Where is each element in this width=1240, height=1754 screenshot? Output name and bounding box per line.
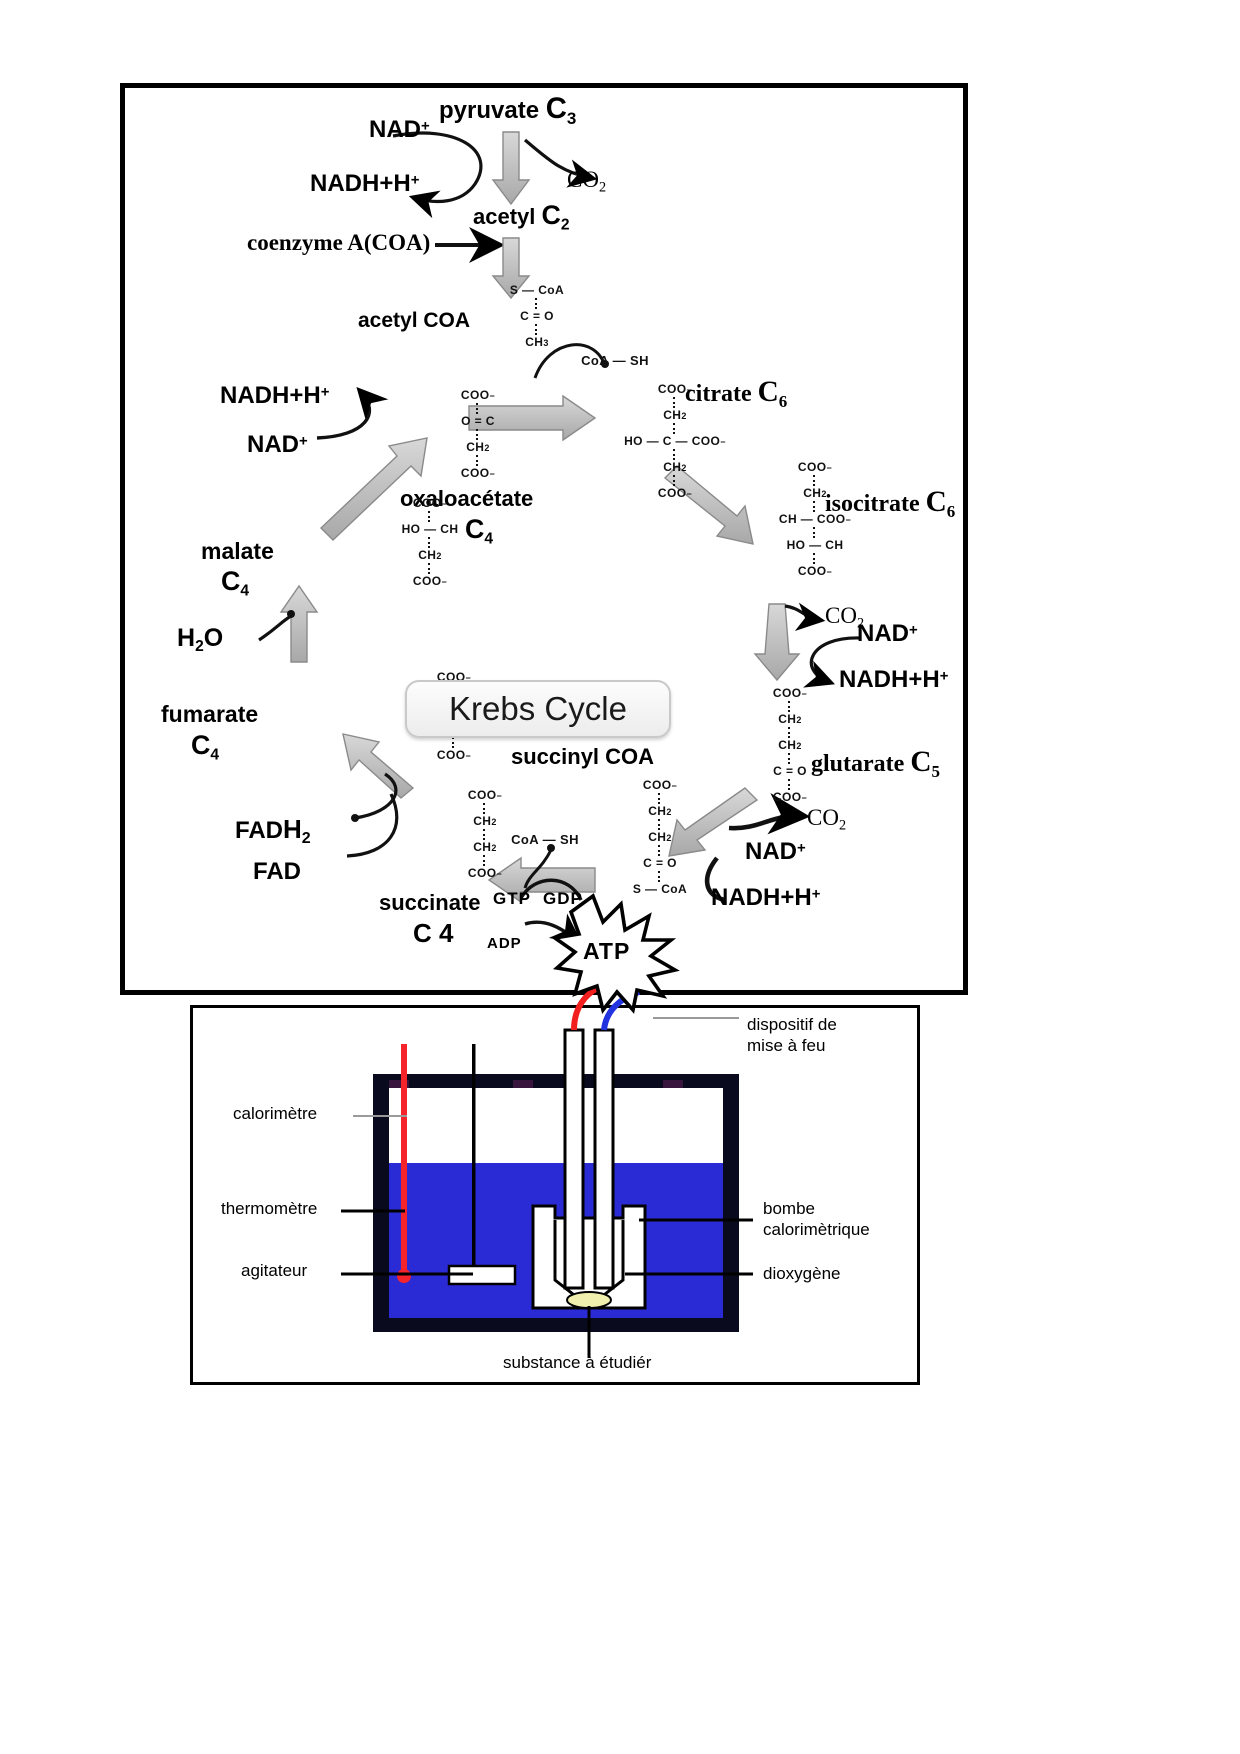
krebs-cycle-title: Krebs Cycle: [405, 680, 671, 738]
calorimeter-canvas: dispositif demise à feu calorimètre ther…: [193, 1008, 917, 1382]
calorimeter-drawing: [193, 1008, 917, 1382]
molecule-malate: COO− HO — CH CH2 COO−: [365, 496, 495, 589]
molecule-acetyl-coa: S — CoA C = O CH3: [477, 283, 597, 350]
label-nadh-h-lower: NADH+H+: [711, 886, 820, 910]
label-fumarate: fumarate: [161, 703, 258, 726]
label-fumarate-c: C4: [191, 732, 219, 763]
molecule-oxaloacetate: COO− O = C CH2 COO−: [413, 388, 543, 481]
label-nadh-h-left: NADH+H+: [220, 384, 329, 408]
label-succinyl-coa: succinyl COA: [511, 746, 654, 768]
label-succinate-c: C 4: [413, 920, 453, 946]
label-malate-c: C4: [221, 568, 249, 599]
krebs-cycle-diagram: pyruvate C3 NAD+ NADH+H+ CO2 acetyl C2 c…: [120, 83, 968, 995]
electrode-tube-right: [595, 1030, 613, 1288]
label-acetyl: acetyl C2: [473, 202, 570, 233]
label-coa-sh-top: CoA — SH: [550, 353, 680, 368]
label-co2-top: CO2: [567, 168, 606, 195]
label-agitateur: agitateur: [241, 1260, 307, 1281]
label-fadh2: FADH2: [235, 816, 311, 847]
electrode-tube-left: [565, 1030, 583, 1288]
label-dioxygene: dioxygène: [763, 1263, 841, 1284]
stirrer-rod: [472, 1044, 476, 1272]
label-citrate: citrate C6: [685, 378, 787, 410]
label-nadh-h-top: NADH+H+: [310, 172, 419, 196]
label-atp: ATP: [583, 940, 630, 963]
molecule-succinyl-coa: COO− CH2 CH2 C = O S — CoA: [595, 778, 725, 897]
label-isocitrate: isocitrate C6: [825, 488, 955, 520]
label-co2-right-lower: CO2: [807, 806, 846, 833]
label-acetyl-coa: acetyl COA: [358, 310, 470, 331]
molecule-succinate: COO− CH2 CH2 COO−: [425, 788, 545, 881]
calorimeter-diagram: dispositif demise à feu calorimètre ther…: [190, 1005, 920, 1385]
label-glutarate: glutarate C5: [811, 748, 940, 780]
label-gdp: GDP: [543, 890, 583, 907]
label-fad: FAD: [253, 860, 301, 884]
label-h2o: H2O: [177, 626, 223, 654]
label-nad-plus-top: NAD+: [369, 118, 430, 142]
label-nad-plus-right: NAD+: [857, 622, 918, 646]
label-nad-plus-left: NAD+: [247, 433, 308, 457]
label-nadh-h-right: NADH+H+: [839, 668, 948, 692]
thermometer-stem: [401, 1044, 407, 1274]
label-succinate: succinate: [379, 892, 481, 914]
label-calorimetre: calorimètre: [233, 1103, 317, 1124]
stirrer-paddle: [449, 1266, 515, 1284]
thermometer-bulb: [397, 1269, 411, 1283]
calorimeter-wall: [373, 1074, 739, 1332]
krebs-diagram-canvas: pyruvate C3 NAD+ NADH+H+ CO2 acetyl C2 c…: [125, 88, 963, 990]
label-thermometre: thermomètre: [221, 1198, 317, 1219]
label-coenzyme-a: coenzyme A(COA): [247, 231, 430, 254]
label-substance-a-etudier: substance à étudiér: [503, 1352, 651, 1373]
label-dispositif-mise-a-feu: dispositif demise à feu: [747, 1014, 837, 1056]
page-root: pyruvate C3 NAD+ NADH+H+ CO2 acetyl C2 c…: [0, 0, 1240, 1754]
sample-dish: [567, 1292, 611, 1308]
label-nad-plus-lower: NAD+: [745, 840, 806, 864]
label-pyruvate: pyruvate C3: [439, 94, 576, 127]
label-bombe-calorimetrique: bombecalorimètrique: [763, 1198, 870, 1240]
molecule-glutarate: COO− CH2 CH2 C = O COO−: [725, 686, 855, 805]
wire-blue: [604, 992, 639, 1030]
label-malate: malate: [201, 540, 274, 563]
label-gtp: GTP: [493, 890, 531, 907]
label-adp: ADP: [487, 936, 522, 951]
water-body: [389, 1163, 723, 1318]
